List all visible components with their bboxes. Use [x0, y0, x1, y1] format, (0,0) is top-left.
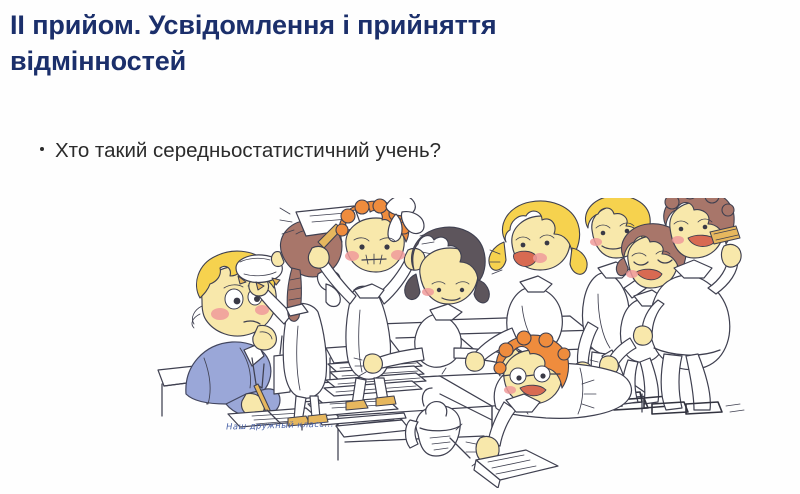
- bullet-list: Хто такий середньостатистичний учень?: [40, 138, 760, 165]
- presentation-slide: II прийом. Усвідомлення і прийняття відм…: [0, 0, 800, 494]
- bullet-text: Хто такий середньостатистичний учень?: [55, 139, 441, 162]
- bullet-dot-icon: [40, 147, 44, 151]
- list-item: Хто такий середньостатистичний учень?: [40, 138, 760, 165]
- page-title: II прийом. Усвідомлення і прийняття відм…: [10, 8, 670, 79]
- classroom-illustration: .ln { fill:none; stroke:#3f4050; stroke-…: [140, 198, 765, 488]
- fallen-book: [450, 424, 558, 488]
